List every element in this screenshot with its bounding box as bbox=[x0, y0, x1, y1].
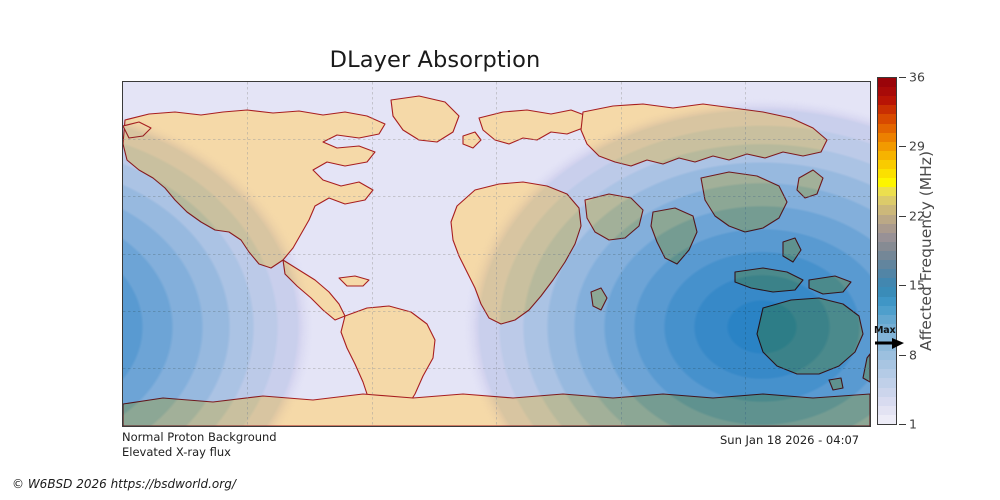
colorbar-ticklabel-8: 8 bbox=[909, 348, 917, 363]
colorbar-band bbox=[878, 268, 896, 278]
colorbar-ticklabel-1: 1 bbox=[909, 417, 917, 432]
colorbar-tick-22 bbox=[899, 216, 906, 217]
colorbar-band bbox=[878, 405, 896, 415]
colorbar-tick-1 bbox=[899, 424, 906, 425]
colorbar-band bbox=[878, 295, 896, 305]
proton-status-note: Normal Proton Background bbox=[122, 430, 277, 444]
colorbar-band bbox=[878, 350, 896, 360]
colorbar-band bbox=[878, 414, 896, 424]
colorbar-band bbox=[878, 104, 896, 114]
colorbar-band bbox=[878, 395, 896, 405]
arrow-right-icon bbox=[874, 338, 904, 350]
figure-canvas: DLayer Absorption bbox=[0, 0, 1000, 500]
colorbar-band bbox=[878, 195, 896, 205]
colorbar-band bbox=[878, 204, 896, 214]
colorbar-band bbox=[878, 232, 896, 242]
colorbar-band bbox=[878, 150, 896, 160]
colorbar-band bbox=[878, 95, 896, 105]
colorbar-band bbox=[878, 122, 896, 132]
colorbar-band bbox=[878, 131, 896, 141]
colorbar-band bbox=[878, 186, 896, 196]
colorbar-tick-36 bbox=[899, 77, 906, 78]
colorbar-band bbox=[878, 77, 896, 87]
colorbar-band bbox=[878, 377, 896, 387]
colorbar-band bbox=[878, 277, 896, 287]
colorbar-tick-15 bbox=[899, 285, 906, 286]
colorbar-band bbox=[878, 359, 896, 369]
colorbar-axis-label: Affected Frequency (MHz) bbox=[917, 151, 935, 351]
colorbar-band bbox=[878, 368, 896, 378]
absorption-contours bbox=[123, 82, 870, 426]
colorbar-band bbox=[878, 168, 896, 178]
colorbar-band bbox=[878, 304, 896, 314]
colorbar-band bbox=[878, 241, 896, 251]
xray-status-note: Elevated X-ray flux bbox=[122, 445, 231, 459]
colorbar-band bbox=[878, 213, 896, 223]
colorbar-band bbox=[878, 259, 896, 269]
colorbar-band bbox=[878, 159, 896, 169]
colorbar-gradient bbox=[878, 78, 896, 424]
colorbar-band bbox=[878, 177, 896, 187]
colorbar-tick-29 bbox=[899, 146, 906, 147]
colorbar-band bbox=[878, 386, 896, 396]
colorbar-band bbox=[878, 86, 896, 96]
colorbar-band bbox=[878, 286, 896, 296]
timestamp-label: Sun Jan 18 2026 - 04:07 bbox=[720, 433, 859, 447]
copyright-label: © W6BSD 2026 https://bsdworld.org/ bbox=[12, 477, 236, 491]
max-marker-label: Max bbox=[874, 325, 895, 336]
colorbar-band bbox=[878, 222, 896, 232]
map-axes[interactable] bbox=[122, 81, 871, 427]
colorbar-band bbox=[878, 314, 896, 324]
max-marker: Max bbox=[874, 326, 906, 350]
colorbar-tick-8 bbox=[899, 355, 906, 356]
colorbar[interactable] bbox=[877, 77, 897, 425]
map-inner bbox=[123, 82, 870, 426]
colorbar-band bbox=[878, 250, 896, 260]
colorbar-band bbox=[878, 113, 896, 123]
page-title: DLayer Absorption bbox=[0, 47, 870, 73]
colorbar-band bbox=[878, 141, 896, 151]
colorbar-ticklabel-36: 36 bbox=[909, 70, 925, 85]
